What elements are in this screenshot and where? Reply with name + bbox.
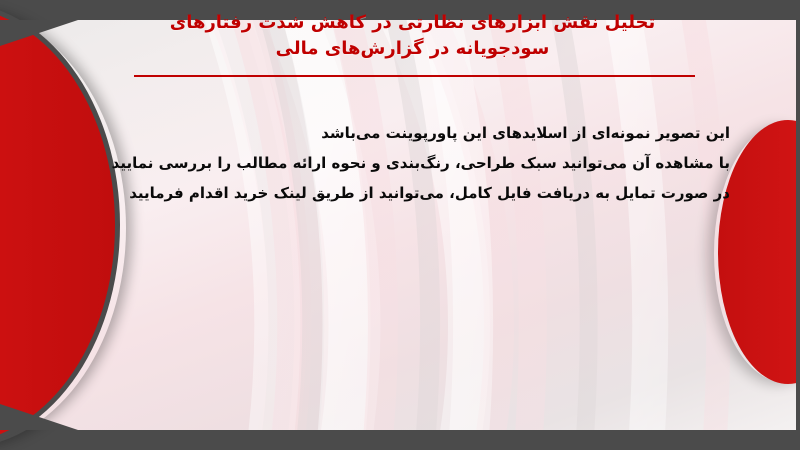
slide-frame-bottom-bar [0,430,800,450]
body-line-1: این تصویر نمونه‌ای از اسلایدهای این پاور… [110,118,730,148]
body-line-3: در صورت تمایل به دریافت فایل کامل، می‌تو… [110,178,730,208]
slide-body-text: این تصویر نمونه‌ای از اسلایدهای این پاور… [110,118,730,208]
slide-title: تحلیل نقش ابزارهای نظارتی در کاهش شدت رف… [120,10,705,61]
corner-bevel-top-left [0,20,78,46]
presentation-slide: تحلیل نقش ابزارهای نظارتی در کاهش شدت رف… [0,0,800,450]
corner-bevel-bottom-left [0,404,78,430]
title-underline-rule [134,75,695,77]
slide-title-line-1: تحلیل نقش ابزارهای نظارتی در کاهش شدت رف… [120,10,705,36]
body-line-2: با مشاهده آن می‌توانید سبک طراحی، رنگ‌بن… [110,148,730,178]
slide-content-panel [4,20,796,430]
slide-frame-right-edge [796,0,800,450]
background-arc-pattern [4,20,796,430]
slide-title-line-2: سودجویانه در گزارش‌های مالی [120,36,705,62]
